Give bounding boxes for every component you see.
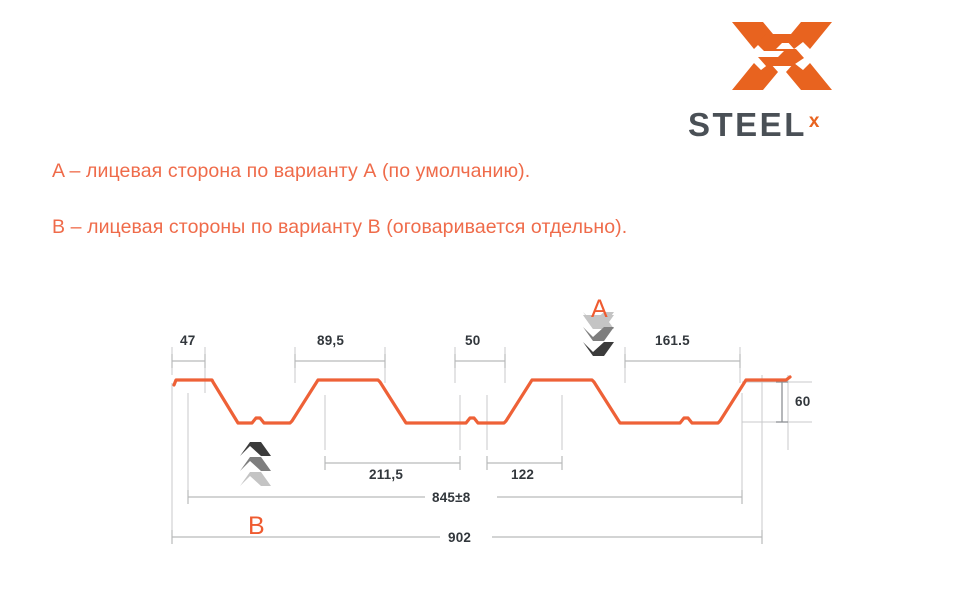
marker-letter-b: B	[248, 512, 265, 541]
dimension-label-845: 845±8	[432, 490, 470, 505]
wordmark-superscript-x: x	[809, 111, 820, 132]
wordmark-steel: STEEL	[688, 106, 807, 143]
extension-lines	[172, 347, 812, 537]
caption-variant-b: B – лицевая стороны по варианту B (огова…	[52, 216, 627, 239]
caption-variant-a: A – лицевая сторона по варианту А (по ум…	[52, 160, 530, 183]
dimension-label-161-5: 161.5	[655, 333, 690, 348]
page-root: STEELx A – лицевая сторона по варианту А…	[0, 0, 970, 597]
profile-technical-drawing: 47 89,5 50 161.5 211,5 122 845±8 902 60 …	[0, 275, 970, 565]
marker-letter-a: A	[591, 295, 608, 324]
top-dimension-lines	[172, 354, 740, 368]
dimension-label-50: 50	[465, 333, 480, 348]
dimension-label-47: 47	[180, 333, 195, 348]
dimension-label-902: 902	[448, 530, 471, 545]
steelx-x-mark-icon	[730, 18, 834, 94]
dimension-label-89-5: 89,5	[317, 333, 344, 348]
dimension-label-211-5: 211,5	[369, 467, 403, 482]
marker-b-chevrons	[240, 442, 271, 486]
dimension-label-60: 60	[795, 394, 810, 409]
profile-drawing-svg	[0, 275, 970, 565]
dimension-label-122: 122	[511, 467, 534, 482]
brand-logo: STEELx	[688, 18, 874, 144]
height-dimension-line	[776, 382, 788, 422]
brand-wordmark: STEELx	[688, 106, 874, 140]
corrugated-profile-path	[174, 377, 790, 423]
